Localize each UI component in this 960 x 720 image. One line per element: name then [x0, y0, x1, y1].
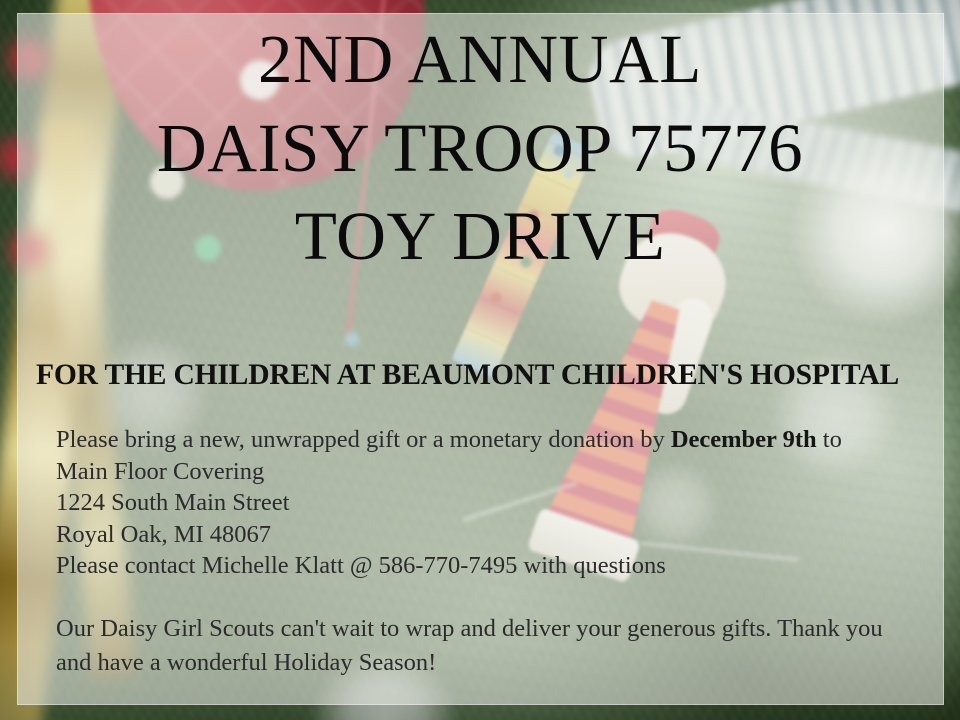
- city-state-zip: Royal Oak, MI 48067: [56, 519, 936, 551]
- title-line-2: DAISY TROOP 75776: [0, 113, 960, 183]
- flyer-content: 2ND ANNUAL DAISY TROOP 75776 TOY DRIVE F…: [0, 0, 960, 720]
- title-block: 2ND ANNUAL DAISY TROOP 75776 TOY DRIVE: [0, 24, 960, 271]
- body-line-1: Please bring a new, unwrapped gift or a …: [56, 424, 936, 456]
- street-address: 1224 South Main Street: [56, 487, 936, 519]
- closing-message: Our Daisy Girl Scouts can't wait to wrap…: [56, 612, 906, 680]
- title-line-3: TOY DRIVE: [0, 201, 960, 271]
- deadline-date: December 9th: [671, 426, 817, 453]
- body-line-1-post: to: [817, 426, 842, 453]
- flyer-canvas: 2ND ANNUAL DAISY TROOP 75776 TOY DRIVE F…: [0, 0, 960, 720]
- dropoff-location: Main Floor Covering: [56, 456, 936, 488]
- subheading: FOR THE CHILDREN AT BEAUMONT CHILDREN'S …: [36, 358, 911, 392]
- contact-line: Please contact Michelle Klatt @ 586-770-…: [56, 550, 936, 582]
- body-line-1-pre: Please bring a new, unwrapped gift or a …: [56, 426, 671, 453]
- body-text-block: Please bring a new, unwrapped gift or a …: [56, 424, 936, 582]
- title-line-1: 2ND ANNUAL: [0, 24, 960, 94]
